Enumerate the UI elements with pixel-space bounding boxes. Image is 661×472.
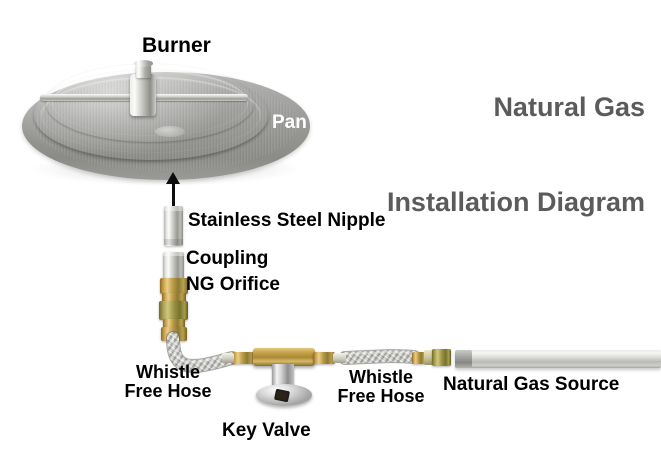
tee-fitting-right (313, 352, 335, 364)
burner-graphic (34, 60, 254, 146)
diagram-canvas: Natural Gas Installation Diagram Burner … (0, 0, 661, 472)
tee-ferrule-right (333, 353, 346, 363)
nipple-bottom-band (164, 239, 183, 245)
coupling-graphic (163, 252, 184, 279)
ng-orifice-hex-mid (159, 301, 188, 320)
nipple-top-band (164, 206, 183, 211)
coupling-rim (163, 252, 184, 256)
gas-pipe-collar (455, 350, 472, 368)
burner-spoke-left (40, 94, 136, 101)
label-burner: Burner (142, 35, 211, 57)
ng-orifice-hex-upper (160, 278, 188, 294)
natural-gas-source-pipe (455, 350, 661, 368)
label-key-valve: Key Valve (222, 421, 311, 441)
burner-hub-cap (134, 60, 153, 67)
page-title: Natural Gas Installation Diagram (387, 28, 645, 283)
burner-hub (130, 74, 156, 116)
tee-ferrule-left (222, 353, 234, 363)
label-stainless-steel-nipple: Stainless Steel Nipple (188, 211, 385, 231)
label-coupling: Coupling (186, 249, 268, 269)
burner-spoke-right (152, 94, 248, 101)
label-natural-gas-source: Natural Gas Source (443, 375, 619, 395)
flow-arrow-shaft-icon (172, 176, 175, 206)
label-whistle-free-hose-right: Whistle Free Hose (331, 368, 431, 406)
flare-fitting-body (432, 349, 451, 366)
ng-orifice-hex-lower (161, 327, 187, 341)
label-pan: Pan (272, 113, 307, 133)
title-line-2: Installation Diagram (387, 187, 645, 219)
label-ng-orifice: NG Orifice (186, 275, 280, 295)
title-line-1: Natural Gas (387, 92, 645, 124)
tee-fitting-left (232, 352, 255, 364)
label-whistle-free-hose-left: Whistle Free Hose (113, 363, 223, 401)
